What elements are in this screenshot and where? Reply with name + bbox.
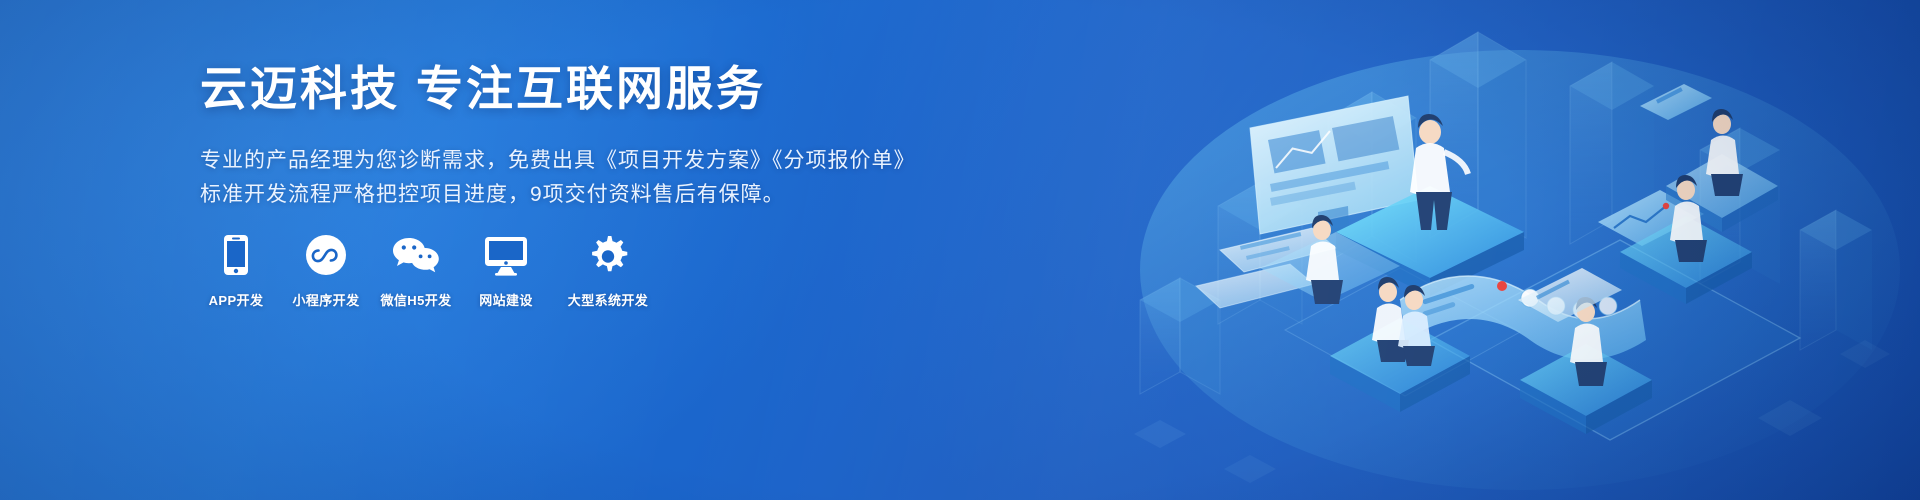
service-item-wechat-h5[interactable]: 微信H5开发 [380,230,452,309]
illustration [1100,0,1920,500]
gear-icon [587,230,629,276]
service-item-app[interactable]: APP开发 [200,230,272,309]
service-label: APP开发 [209,290,264,309]
wechat-icon [392,230,440,276]
mini-program-icon [305,230,347,276]
service-item-miniprogram[interactable]: 小程序开发 [290,230,362,309]
subtitle-line-1: 专业的产品经理为您诊断需求，免费出具《项目开发方案》《分项报价单》 [200,144,920,178]
service-label: 微信H5开发 [380,290,451,309]
hero-banner: 云迈科技 专注互联网服务 专业的产品经理为您诊断需求，免费出具《项目开发方案》《… [0,0,1920,500]
monitor-icon [484,230,528,276]
service-item-large-system[interactable]: 大型系统开发 [560,230,656,309]
service-list: APP开发 小程序开发 微信 [200,230,674,309]
subtitle-line-2: 标准开发流程严格把控项目进度，9项交付资料售后有保障。 [200,178,920,212]
service-item-website[interactable]: 网站建设 [470,230,542,309]
mobile-phone-icon [223,230,249,276]
hero-copy: 云迈科技 专注互联网服务 专业的产品经理为您诊断需求，免费出具《项目开发方案》《… [200,62,920,212]
illustration-svg [1100,0,1920,500]
page-title: 云迈科技 专注互联网服务 [200,62,920,116]
service-label: 网站建设 [479,290,533,309]
hero-subtitle: 专业的产品经理为您诊断需求，免费出具《项目开发方案》《分项报价单》 标准开发流程… [200,144,920,212]
service-label: 大型系统开发 [568,290,648,309]
service-label: 小程序开发 [292,290,359,309]
